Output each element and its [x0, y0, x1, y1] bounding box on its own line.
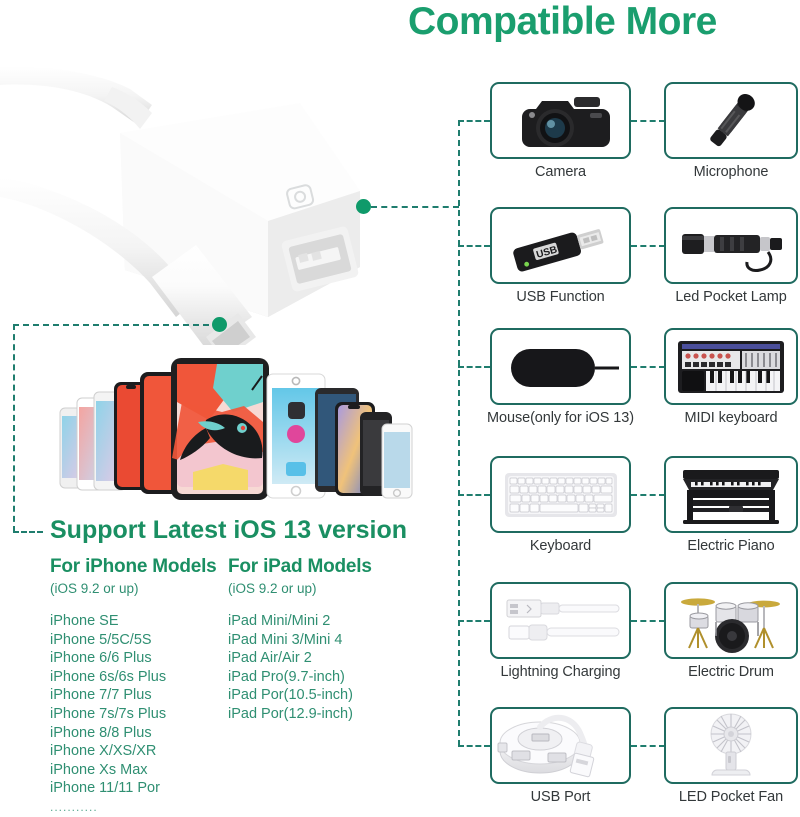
ipad-models-subtitle: (iOS 9.2 or up)	[228, 581, 413, 596]
list-item: iPad Mini 3/Mini 4	[228, 631, 413, 650]
page-title: Compatible More	[408, 2, 800, 43]
compat-label: Mouse(only for iOS 13)	[484, 410, 637, 426]
usb-flash-drive-icon: USB	[492, 209, 629, 282]
midi-keyboard-icon	[666, 330, 796, 403]
list-item: iPad Pro(9.7-inch)	[228, 668, 413, 687]
link-mouse-midi	[631, 366, 665, 368]
list-item: iPhone 7s/7s Plus	[50, 705, 225, 724]
compat-label: MIDI keyboard	[664, 410, 798, 426]
branch-keyboard	[458, 494, 490, 496]
iphone-models-subtitle: (iOS 9.2 or up)	[50, 581, 225, 596]
led-pocket-lamp-box[interactable]	[664, 207, 798, 284]
branch-usbport	[458, 745, 490, 747]
list-item: iPad Mini/Mini 2	[228, 612, 413, 631]
compat-label: Lightning Charging	[488, 664, 633, 680]
compat-tree-spine	[458, 120, 460, 746]
branch-camera	[458, 120, 490, 122]
compat-label: USB Port	[490, 789, 631, 805]
list-item: iPhone SE	[50, 612, 225, 631]
link-usb-lamp	[631, 245, 665, 247]
compat-label: Keyboard	[490, 538, 631, 554]
connector-dot-usb-port	[356, 199, 371, 214]
link-keyboard-piano	[631, 494, 665, 496]
list-item-ellipsis: ...........	[50, 798, 225, 817]
iphone-models-heading: For iPhone Models	[50, 556, 225, 578]
drum-kit-icon	[666, 584, 796, 657]
devices-bracket-left	[13, 324, 15, 532]
link-usbport-fan	[631, 745, 665, 747]
list-item: iPhone 7/7 Plus	[50, 686, 225, 705]
list-item: iPhone 6s/6s Plus	[50, 668, 225, 687]
compat-label: LED Pocket Fan	[664, 789, 798, 805]
lightning-charging-box[interactable]	[490, 582, 631, 659]
link-lightning-drum	[631, 620, 665, 622]
iphone-models-list: iPhone SE iPhone 5/5C/5S iPhone 6/6 Plus…	[50, 612, 225, 817]
list-item: iPhone Xs Max	[50, 761, 225, 780]
compat-label: Electric Piano	[664, 538, 798, 554]
iphone-models-column: For iPhone Models (iOS 9.2 or up) iPhone…	[50, 556, 225, 817]
compat-label: Microphone	[664, 164, 798, 180]
keyboard-icon	[492, 458, 629, 531]
infographic-canvas: Compatible More	[0, 0, 800, 800]
lightning-cable-icon	[492, 584, 629, 657]
usb-port-lead-line	[371, 206, 459, 208]
list-item: iPad Por(10.5-inch)	[228, 686, 413, 705]
usb-hub-icon	[492, 709, 629, 782]
mouse-icon	[492, 330, 629, 403]
list-item: iPhone 6/6 Plus	[50, 649, 225, 668]
electric-drum-box[interactable]	[664, 582, 798, 659]
product-photo-lightning-usb-adapter	[0, 55, 400, 345]
camera-box[interactable]	[490, 82, 631, 159]
support-heading: Support Latest iOS 13 version	[50, 516, 407, 545]
electric-piano-box[interactable]	[664, 456, 798, 533]
compat-label: USB Function	[490, 289, 631, 305]
electric-piano-icon	[666, 458, 796, 531]
list-item: iPad Por(12.9-inch)	[228, 705, 413, 724]
usb-function-box[interactable]: USB	[490, 207, 631, 284]
compat-label: Led Pocket Lamp	[664, 289, 798, 305]
mouse-box[interactable]	[490, 328, 631, 405]
microphone-box[interactable]	[664, 82, 798, 159]
flashlight-icon	[666, 209, 796, 282]
list-item: iPhone X/XS/XR	[50, 742, 225, 761]
list-item: iPad Air/Air 2	[228, 649, 413, 668]
devices-bracket-bottom	[13, 531, 43, 533]
compat-label: Camera	[490, 164, 631, 180]
list-item: iPhone 8/8 Plus	[50, 724, 225, 743]
branch-usb	[458, 245, 490, 247]
link-camera-microphone	[631, 120, 665, 122]
device-fan-image	[30, 350, 430, 525]
devices-bracket-top	[13, 324, 219, 326]
list-item: iPhone 11/11 Por	[50, 779, 225, 798]
ipad-models-list: iPad Mini/Mini 2 iPad Mini 3/Mini 4 iPad…	[228, 612, 413, 724]
connector-dot-devices	[212, 317, 227, 332]
branch-mouse	[458, 366, 490, 368]
midi-keyboard-box[interactable]	[664, 328, 798, 405]
microphone-icon	[666, 84, 796, 157]
list-item: iPhone 5/5C/5S	[50, 631, 225, 650]
camera-icon	[492, 84, 629, 157]
ipad-models-heading: For iPad Models	[228, 556, 413, 578]
compat-label: Electric Drum	[664, 664, 798, 680]
pocket-fan-icon	[666, 709, 796, 782]
usb-port-box[interactable]	[490, 707, 631, 784]
led-pocket-fan-box[interactable]	[664, 707, 798, 784]
keyboard-box[interactable]	[490, 456, 631, 533]
ipad-models-column: For iPad Models (iOS 9.2 or up) iPad Min…	[228, 556, 413, 724]
branch-lightning	[458, 620, 490, 622]
